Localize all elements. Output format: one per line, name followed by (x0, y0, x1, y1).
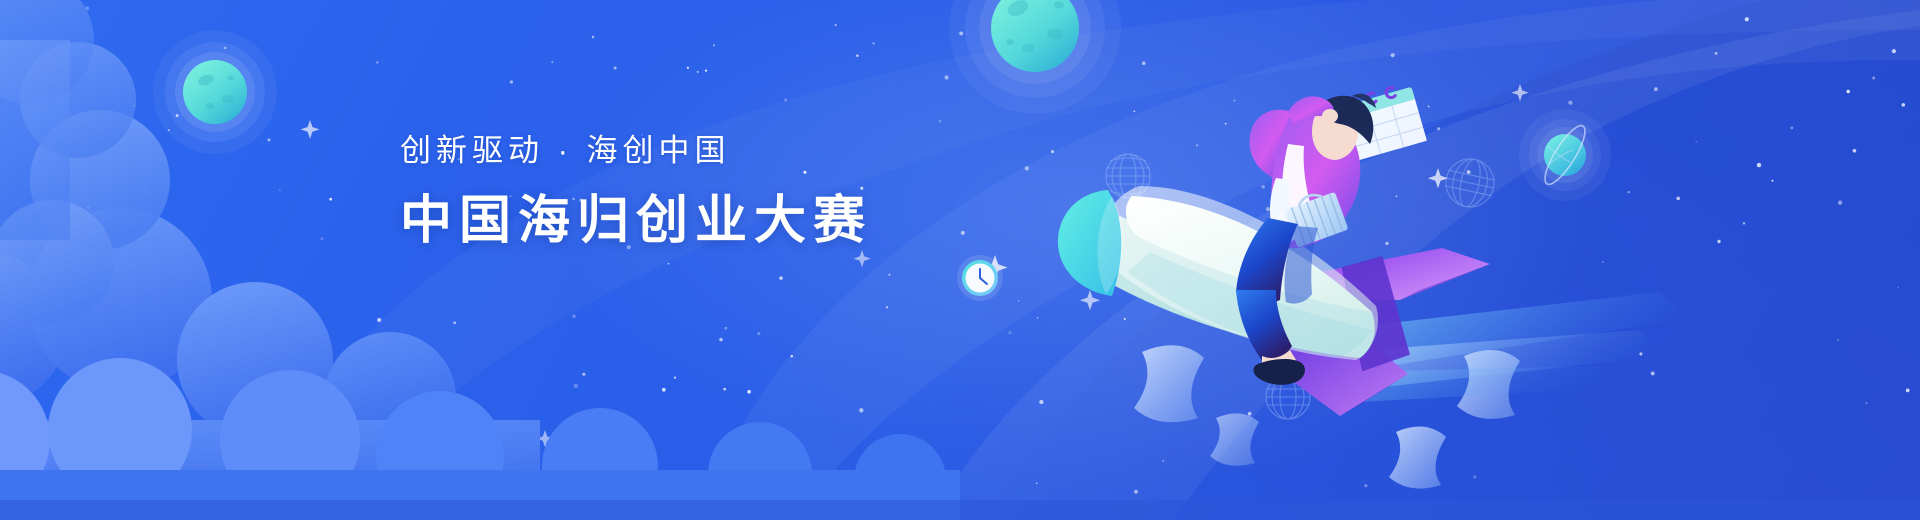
rider-hand (1322, 109, 1338, 123)
campaign-banner: 创新驱动 · 海创中国 中国海归创业大赛 (0, 0, 1920, 520)
rocket-illustration-layer (0, 0, 1920, 520)
rider-shoe (1254, 359, 1305, 385)
page-title: 中国海归创业大赛 (400, 192, 872, 250)
banner-subtitle: 创新驱动 · 海创中国 (400, 134, 872, 168)
banner-text-block: 创新驱动 · 海创中国 中国海归创业大赛 (400, 134, 872, 250)
